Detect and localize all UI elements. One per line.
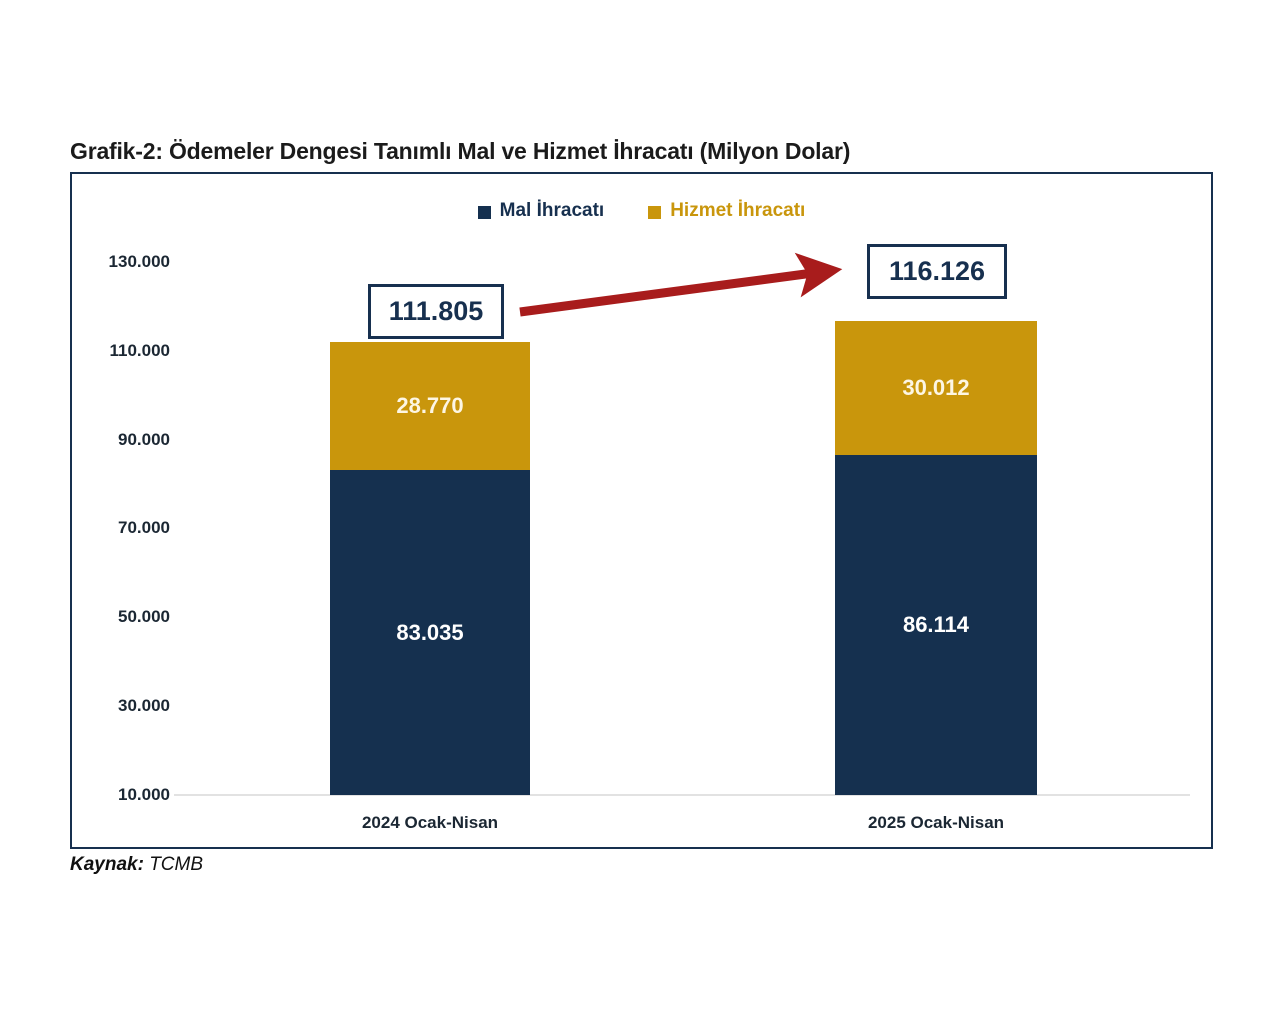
callout-value: 111.805 (389, 296, 484, 327)
y-axis-tick-50000: 50.000 (72, 607, 170, 627)
bar-segment-mal-ihracati[interactable]: 86.114 (835, 455, 1037, 795)
callout-value: 116.126 (889, 256, 985, 287)
y-axis-tick-70000: 70.000 (72, 518, 170, 538)
bar-segment-hizmet-ihracati[interactable]: 28.770 (330, 342, 530, 470)
bar-segment-hizmet-ihracati[interactable]: 30.012 (835, 321, 1037, 455)
y-axis-tick-110000: 110.000 (72, 341, 170, 361)
y-axis-tick-130000: 130.000 (72, 252, 170, 272)
y-axis-tick-90000: 90.000 (72, 430, 170, 450)
bar-segment-mal-ihracati[interactable]: 83.035 (330, 470, 530, 795)
axis-baseline (174, 794, 1190, 796)
x-axis-category-2025: 2025 Ocak-Nisan (835, 813, 1037, 833)
bar-group-2024[interactable]: 28.770 83.035 (330, 174, 530, 795)
callout-total-2024[interactable]: 111.805 (368, 284, 504, 339)
bar-segment-label: 28.770 (396, 393, 463, 419)
x-axis-category-2024: 2024 Ocak-Nisan (330, 813, 530, 833)
page-title: Grafik-2: Ödemeler Dengesi Tanımlı Mal v… (70, 138, 850, 165)
bar-segment-label: 86.114 (903, 612, 969, 638)
callout-total-2025[interactable]: 116.126 (867, 244, 1007, 299)
bar-segment-label: 83.035 (396, 620, 463, 646)
bar-segment-label: 30.012 (902, 375, 969, 401)
plot-area: 130.000 110.000 90.000 70.000 50.000 30.… (72, 174, 1211, 847)
source-value: TCMB (149, 854, 203, 875)
source-note: Kaynak: TCMB (70, 854, 203, 876)
y-axis-tick-30000: 30.000 (72, 696, 170, 716)
y-axis-tick-10000: 10.000 (72, 785, 170, 805)
trend-arrow-icon (72, 174, 1211, 847)
chart-frame: Mal İhracatı Hizmet İhracatı 130.000 110… (70, 172, 1213, 849)
source-label: Kaynak: (70, 854, 144, 875)
